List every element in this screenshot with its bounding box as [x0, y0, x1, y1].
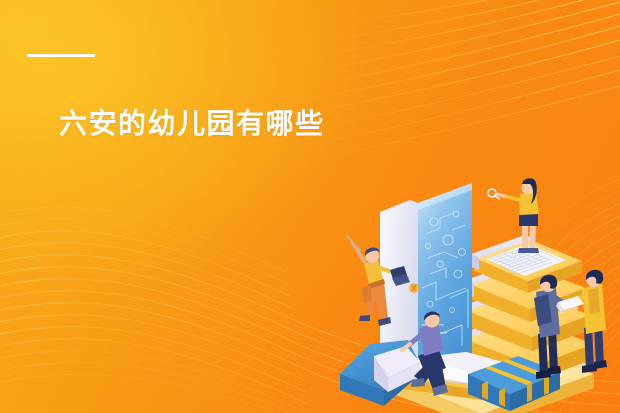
education-illustration — [322, 178, 620, 413]
banner-image: 六安的幼儿园有哪些 — [0, 0, 620, 413]
title-accent-rule — [27, 54, 95, 57]
page-title: 六安的幼儿园有哪些 — [59, 106, 325, 142]
